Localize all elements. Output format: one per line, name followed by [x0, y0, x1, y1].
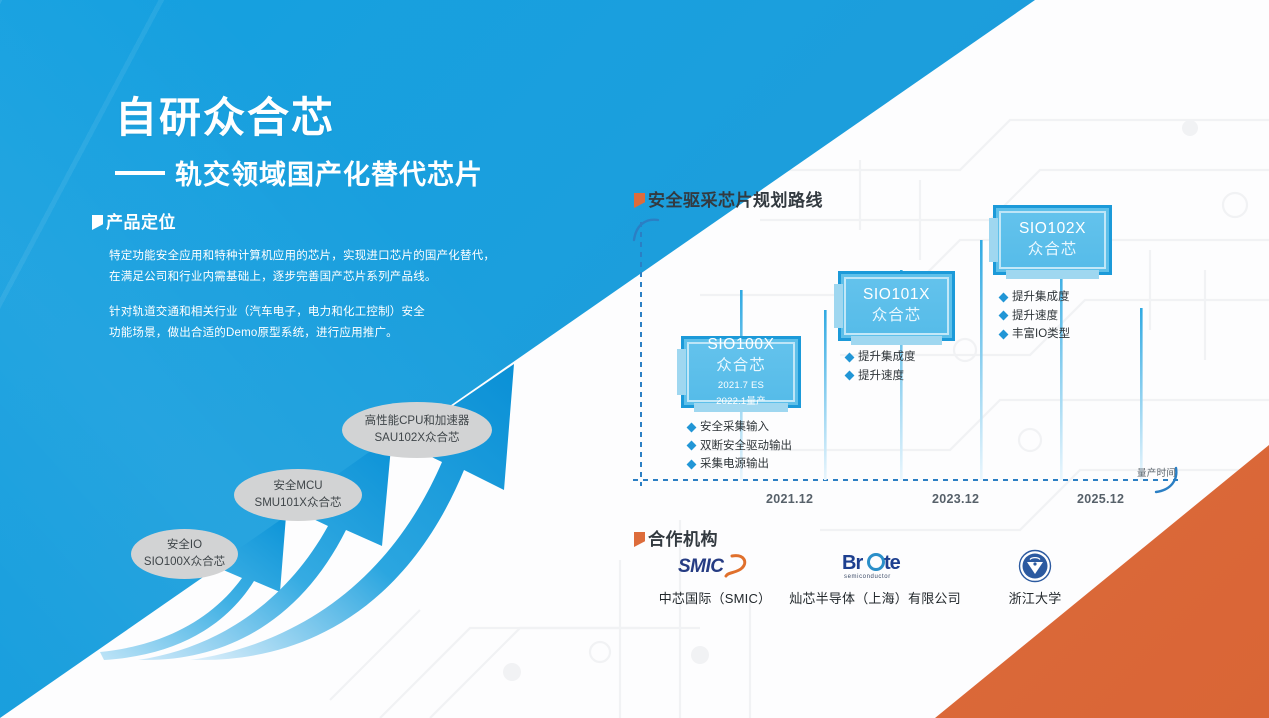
list-item-label: 提升速度: [1012, 307, 1058, 326]
chip-date: 2022.1量产: [716, 395, 766, 409]
pill-line-2: SIO100X众合芯: [144, 554, 225, 571]
pill-line-2: SAU102X众合芯: [374, 430, 459, 447]
list-item-label: 双断安全驱动输出: [700, 437, 792, 456]
list-item-label: 提升速度: [858, 367, 904, 386]
product-positioning-section: 产品定位 特定功能安全应用和特种计算机应用的芯片，实现进口芯片的国产化替代， 在…: [92, 208, 512, 344]
chip-name-cn: 众合芯: [872, 306, 922, 327]
pill-line-1: 安全MCU: [273, 478, 322, 495]
brite-logo-icon: Br te semiconductor: [838, 548, 912, 584]
list-item-label: 提升集成度: [1012, 288, 1070, 307]
partners-list: SMIC 中芯国际（SMIC） Br te semiconductor 灿芯半导…: [640, 548, 1110, 607]
chip-feature-list: 提升集成度 提升速度 丰富IO类型: [1000, 288, 1070, 344]
chip-feature-list: 安全采集输入 双断安全驱动输出 采集电源输出: [688, 418, 792, 474]
pill-line-1: 高性能CPU和加速器: [365, 413, 470, 430]
x-axis-tick-label: 2021.12: [766, 492, 813, 506]
partner-item-brite: Br te semiconductor 灿芯半导体（上海）有限公司: [800, 548, 950, 607]
list-item-label: 提升集成度: [858, 348, 916, 367]
chip-connector-line: [824, 310, 827, 480]
chip-card-inner: SIO102X 众合芯: [999, 211, 1106, 269]
product-positioning-body: 特定功能安全应用和特种计算机应用的芯片，实现进口芯片的国产化替代， 在满足公司和…: [109, 246, 512, 344]
list-item: 提升集成度: [1000, 288, 1070, 307]
pill-line-1: 安全IO: [167, 537, 202, 554]
page-title: 自研众合芯: [115, 94, 483, 141]
partner-item-zhejiang-university: 浙江大学: [960, 548, 1110, 607]
list-item: 提升速度: [1000, 307, 1070, 326]
chip-name-cn: 众合芯: [1028, 240, 1078, 261]
list-item-label: 采集电源输出: [700, 455, 769, 474]
diamond-bullet-icon: [845, 371, 855, 381]
diamond-bullet-icon: [687, 460, 697, 470]
em-dash-rule: [115, 171, 165, 175]
list-item: 安全采集输入: [688, 418, 792, 437]
growth-pill-safety-mcu: 安全MCU SMU101X众合芯: [234, 469, 362, 521]
svg-text:SMIC: SMIC: [678, 556, 724, 577]
partner-name: 中芯国际（SMIC）: [659, 588, 772, 607]
chip-name-cn: 众合芯: [716, 356, 766, 377]
chip-name: SIO100X: [707, 335, 774, 356]
partner-name: 灿芯半导体（上海）有限公司: [789, 588, 961, 607]
product-positioning-paragraph: 特定功能安全应用和特种计算机应用的芯片，实现进口芯片的国产化替代， 在满足公司和…: [109, 246, 512, 289]
axis-arrow-icon: [634, 220, 658, 240]
chip-name: SIO101X: [863, 285, 930, 306]
page-subtitle-text: 轨交领域国产化替代芯片: [175, 153, 483, 192]
partner-name: 浙江大学: [1009, 588, 1062, 607]
list-item: 双断安全驱动输出: [688, 437, 792, 456]
pill-line-2: SMU101X众合芯: [255, 495, 342, 512]
partner-item-smic: SMIC 中芯国际（SMIC）: [640, 548, 790, 607]
product-positioning-heading-text: 产品定位: [106, 208, 176, 233]
growth-pill-safety-io: 安全IO SIO100X众合芯: [131, 529, 238, 579]
list-item: 提升集成度: [846, 348, 916, 367]
diamond-bullet-icon: [999, 330, 1009, 340]
diamond-bullet-icon: [687, 441, 697, 451]
list-item: 提升速度: [846, 367, 916, 386]
hero-block: 自研众合芯 轨交领域国产化替代芯片: [115, 94, 483, 192]
roadmap-heading-text: 安全驱采芯片规划路线: [648, 186, 823, 211]
list-item-label: 安全采集输入: [700, 418, 769, 437]
chip-date: 2021.7 ES: [718, 379, 764, 393]
list-item-label: 丰富IO类型: [1012, 325, 1070, 344]
x-axis-tick-label: 2025.12: [1077, 492, 1124, 506]
flag-marker-icon: [634, 193, 645, 208]
svg-text:semiconductor: semiconductor: [844, 574, 891, 580]
roadmap-chip-card[interactable]: SIO101X 众合芯: [838, 271, 955, 341]
roadmap-chip-card[interactable]: SIO100X 众合芯 2021.7 ES 2022.1量产: [681, 336, 801, 408]
partners-heading: 合作机构: [634, 525, 718, 550]
x-axis-caption: 量产时间: [1137, 465, 1176, 479]
roadmap-heading: 安全驱采芯片规划路线: [634, 186, 823, 211]
svg-text:Br: Br: [842, 552, 863, 574]
diamond-bullet-icon: [999, 311, 1009, 321]
chip-connector-line: [1140, 308, 1143, 480]
chip-feature-list: 提升集成度 提升速度: [846, 348, 916, 385]
diamond-bullet-icon: [845, 352, 855, 362]
page-subtitle: 轨交领域国产化替代芯片: [115, 153, 483, 192]
list-item: 丰富IO类型: [1000, 325, 1070, 344]
smic-logo-icon: SMIC: [674, 548, 756, 584]
product-positioning-paragraph: 针对轨道交通和相关行业（汽车电子，电力和化工控制）安全 功能场景，做出合适的De…: [109, 302, 512, 345]
partners-heading-text: 合作机构: [648, 525, 718, 550]
diamond-bullet-icon: [999, 292, 1009, 302]
svg-text:te: te: [884, 552, 901, 574]
growth-pill-high-performance-cpu: 高性能CPU和加速器 SAU102X众合芯: [342, 402, 492, 458]
chip-name: SIO102X: [1019, 219, 1086, 240]
chip-card-inner: SIO101X 众合芯: [844, 277, 949, 335]
flag-marker-icon: [92, 215, 103, 230]
roadmap-chip-card[interactable]: SIO102X 众合芯: [993, 205, 1112, 275]
x-axis-tick-label: 2023.12: [932, 492, 979, 506]
diamond-bullet-icon: [687, 422, 697, 432]
chip-connector-line: [980, 240, 983, 480]
list-item: 采集电源输出: [688, 455, 792, 474]
zhejiang-university-logo-icon: [1018, 548, 1052, 584]
product-positioning-heading: 产品定位: [92, 208, 512, 233]
slide-canvas: 自研众合芯 轨交领域国产化替代芯片 产品定位 特定功能安全应用和特种计算机应用的…: [0, 0, 1269, 718]
flag-marker-icon: [634, 532, 645, 547]
chip-card-inner: SIO100X 众合芯 2021.7 ES 2022.1量产: [687, 342, 795, 402]
